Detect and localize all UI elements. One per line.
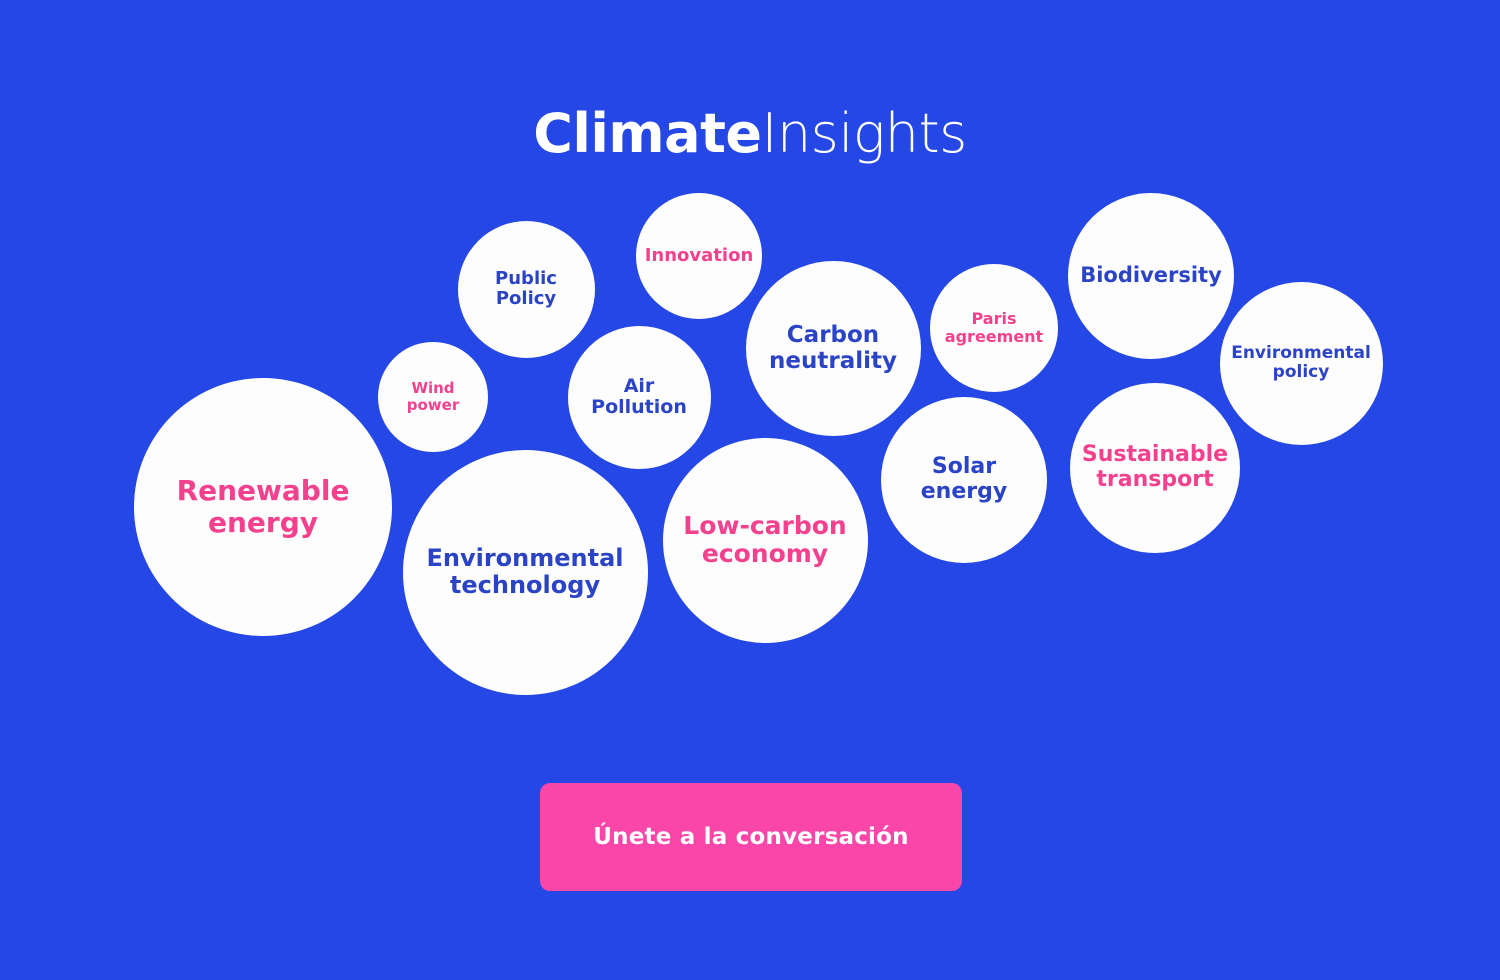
topic-bubble[interactable]: Paris agreement — [930, 264, 1058, 392]
topic-bubble[interactable]: Wind power — [378, 342, 488, 452]
topic-bubble-label: Environmental technology — [403, 545, 648, 599]
topic-bubble[interactable]: Environmental policy — [1220, 282, 1383, 445]
topic-bubble[interactable]: Low-carbon economy — [663, 438, 868, 643]
topic-bubble-label: Environmental policy — [1220, 344, 1383, 382]
topic-bubble[interactable]: Innovation — [636, 193, 762, 319]
topic-bubble-label: Carbon neutrality — [746, 322, 921, 374]
topic-bubble-label: Public Policy — [458, 269, 595, 310]
join-conversation-button[interactable]: Únete a la conversación — [540, 783, 962, 891]
topic-bubble-label: Innovation — [639, 246, 760, 266]
topic-bubble-label: Paris agreement — [930, 310, 1058, 346]
topic-bubble-label: Solar energy — [881, 455, 1047, 505]
topic-bubble[interactable]: Solar energy — [881, 397, 1047, 563]
topic-bubble[interactable]: Public Policy — [458, 221, 595, 358]
topic-bubble-label: Wind power — [378, 380, 488, 414]
topic-bubble-label: Renewable energy — [134, 475, 392, 538]
topic-bubble[interactable]: Environmental technology — [403, 450, 648, 695]
topic-bubble[interactable]: Sustainable transport — [1070, 383, 1240, 553]
topic-bubble-label: Sustainable transport — [1070, 443, 1240, 493]
topic-bubble-label: Low-carbon economy — [663, 512, 868, 569]
topic-bubble-label: Air Pollution — [568, 376, 711, 419]
page-root: ClimateInsights Renewable energyEnvironm… — [0, 0, 1500, 980]
topic-bubble[interactable]: Renewable energy — [134, 378, 392, 636]
topic-bubble[interactable]: Carbon neutrality — [746, 261, 921, 436]
topic-bubble[interactable]: Biodiversity — [1068, 193, 1234, 359]
topic-bubble-label: Biodiversity — [1074, 264, 1228, 288]
topic-bubble[interactable]: Air Pollution — [568, 326, 711, 469]
